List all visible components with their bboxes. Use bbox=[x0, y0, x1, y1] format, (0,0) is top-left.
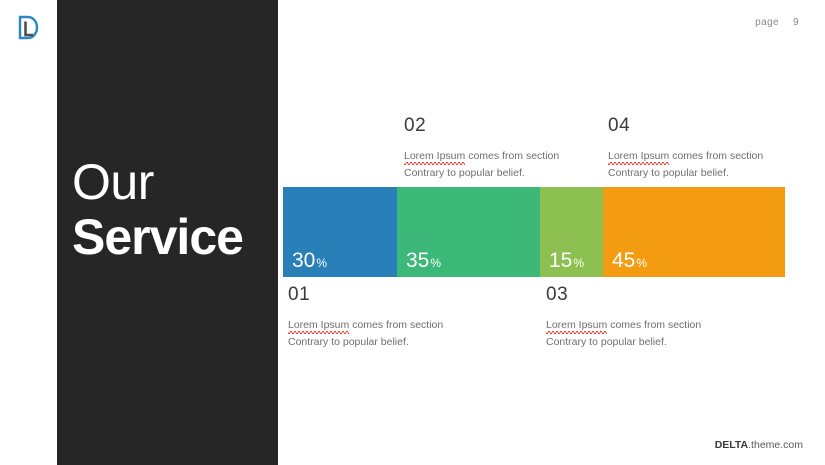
callout-rest-03: comes from section bbox=[607, 319, 701, 331]
bar-unit-02: % bbox=[430, 256, 441, 270]
callout-number-01: 01 bbox=[288, 285, 503, 304]
bar-value-02: 35 bbox=[406, 249, 429, 272]
callout-desc-line2-04: Contrary to popular belief. bbox=[608, 165, 823, 182]
bar-unit-01: % bbox=[316, 256, 327, 270]
bar-unit-04: % bbox=[636, 256, 647, 270]
bar-segment-02[interactable]: 35% bbox=[397, 187, 540, 277]
bar-label-03: 15% bbox=[549, 250, 584, 271]
callout-rest-01: comes from section bbox=[349, 319, 443, 331]
bar-label-01: 30% bbox=[292, 250, 327, 271]
callout-lorem-04: Lorem Ipsum bbox=[608, 150, 669, 162]
callout-01: 01 Lorem Ipsum comes from section Contra… bbox=[288, 285, 503, 351]
page-number: 9 bbox=[793, 17, 799, 28]
bar-value-03: 15 bbox=[549, 249, 572, 272]
page-label: page bbox=[755, 17, 779, 28]
callout-desc-line1-04: Lorem Ipsum comes from section bbox=[608, 148, 823, 165]
bar-segment-03[interactable]: 15% bbox=[540, 187, 603, 277]
delta-logo bbox=[13, 13, 43, 43]
callout-04: 04 Lorem Ipsum comes from section Contra… bbox=[608, 116, 823, 182]
callout-desc-line1-03: Lorem Ipsum comes from section bbox=[546, 317, 761, 334]
bar-value-01: 30 bbox=[292, 249, 315, 272]
callout-rest-02: comes from section bbox=[465, 150, 559, 162]
bar-unit-03: % bbox=[573, 256, 584, 270]
bar-segment-04[interactable]: 45% bbox=[603, 187, 785, 277]
bar-value-04: 45 bbox=[612, 249, 635, 272]
page-title: Our Service bbox=[72, 158, 287, 262]
callout-lorem-01: Lorem Ipsum bbox=[288, 319, 349, 331]
title-line-1: Our bbox=[72, 158, 287, 207]
bar-segment-01[interactable]: 30% bbox=[283, 187, 397, 277]
callout-desc-line2-03: Contrary to popular belief. bbox=[546, 334, 761, 351]
page-indicator: page9 bbox=[755, 17, 799, 28]
callout-02: 02 Lorem Ipsum comes from section Contra… bbox=[404, 116, 619, 182]
footer-brand-domain: .theme.com bbox=[748, 439, 803, 451]
callout-desc-line1-02: Lorem Ipsum comes from section bbox=[404, 148, 619, 165]
bar-label-04: 45% bbox=[612, 250, 647, 271]
callout-03: 03 Lorem Ipsum comes from section Contra… bbox=[546, 285, 761, 351]
callout-desc-line1-01: Lorem Ipsum comes from section bbox=[288, 317, 503, 334]
callout-desc-line2-02: Contrary to popular belief. bbox=[404, 165, 619, 182]
bar-label-02: 35% bbox=[406, 250, 441, 271]
footer-brand-name: DELTA bbox=[715, 439, 748, 451]
callout-number-02: 02 bbox=[404, 116, 619, 135]
callout-lorem-02: Lorem Ipsum bbox=[404, 150, 465, 162]
callout-desc-line2-01: Contrary to popular belief. bbox=[288, 334, 503, 351]
callout-number-03: 03 bbox=[546, 285, 761, 304]
slide-canvas: page9 Our Service 30% 35% 15% 45% 02 Lor… bbox=[0, 0, 825, 465]
callout-number-04: 04 bbox=[608, 116, 823, 135]
footer-brand: DELTA.theme.com bbox=[715, 439, 803, 451]
callout-lorem-03: Lorem Ipsum bbox=[546, 319, 607, 331]
delta-d-l-logo-icon bbox=[13, 13, 43, 43]
title-line-2: Service bbox=[72, 213, 287, 262]
callout-rest-04: comes from section bbox=[669, 150, 763, 162]
percentage-bar-strip: 30% 35% 15% 45% bbox=[283, 187, 785, 277]
